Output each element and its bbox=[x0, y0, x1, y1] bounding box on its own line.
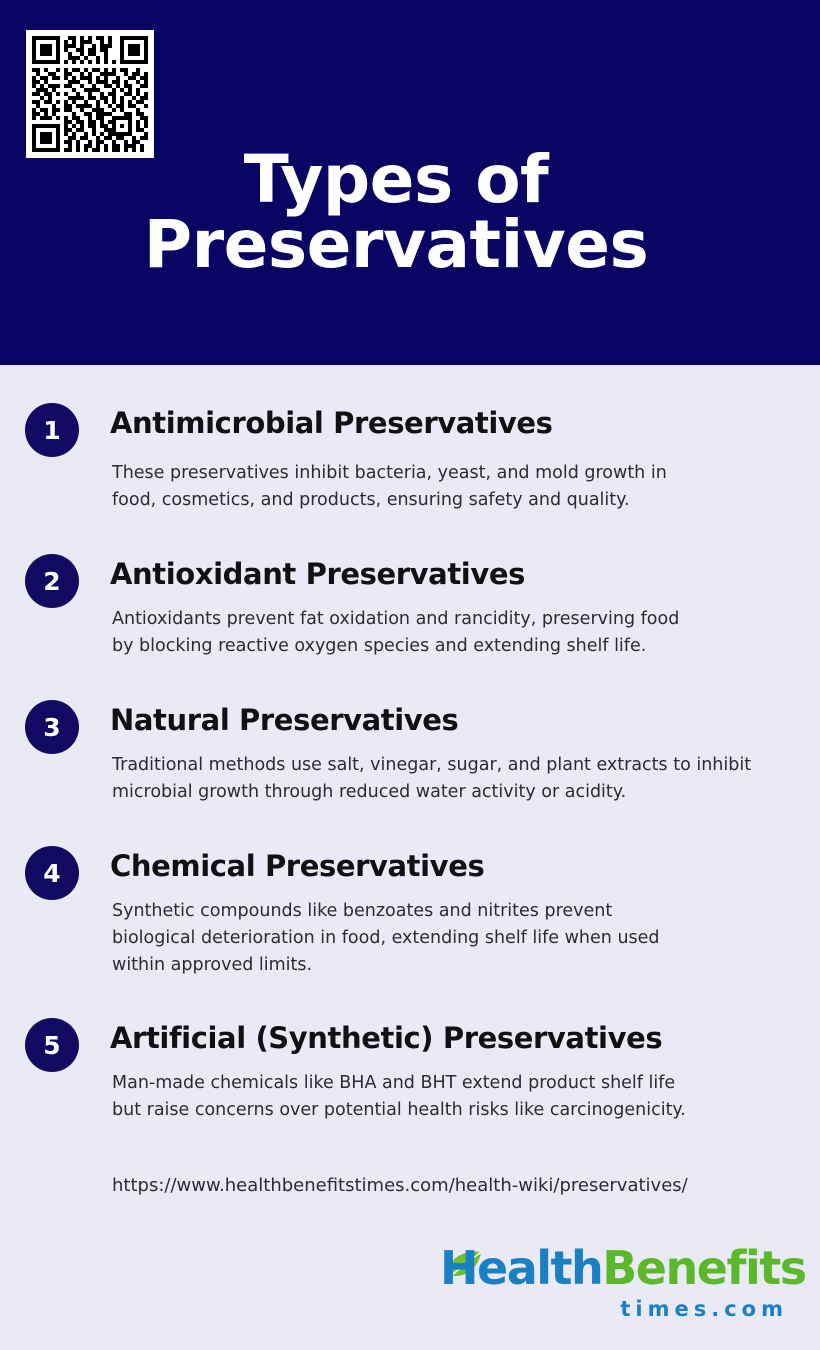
item-description: These preservatives inhibit bacteria, ye… bbox=[112, 460, 667, 514]
item-title: Chemical Preservatives bbox=[110, 849, 484, 883]
item-description: Synthetic compounds like benzoates and n… bbox=[112, 898, 660, 979]
item-description: Traditional methods use salt, vinegar, s… bbox=[112, 752, 751, 806]
item-title: Artificial (Synthetic) Preservatives bbox=[110, 1021, 662, 1055]
header-banner: Types of Preservatives bbox=[0, 0, 820, 365]
item-number-badge: 2 bbox=[25, 554, 79, 608]
qr-code-svg bbox=[32, 36, 148, 152]
item-title: Natural Preservatives bbox=[110, 703, 458, 737]
source-url-link[interactable]: https://www.healthbenefitstimes.com/heal… bbox=[112, 1175, 688, 1196]
item-number-badge: 1 bbox=[25, 403, 79, 457]
logo-health-text: Health bbox=[440, 1241, 602, 1295]
item-description: Man-made chemicals like BHA and BHT exte… bbox=[112, 1070, 686, 1124]
logo-benefits-text: Benefits bbox=[602, 1241, 805, 1295]
item-number-badge: 4 bbox=[25, 846, 79, 900]
site-logo[interactable]: HealthBenefits times.com bbox=[440, 1245, 790, 1335]
page-title: Types of Preservatives bbox=[60, 148, 732, 277]
item-title: Antioxidant Preservatives bbox=[110, 557, 525, 591]
item-title: Antimicrobial Preservatives bbox=[110, 406, 553, 440]
logo-tagline: times.com bbox=[440, 1297, 790, 1321]
qr-code-icon[interactable] bbox=[26, 30, 154, 158]
item-number-badge: 3 bbox=[25, 700, 79, 754]
logo-wordmark: HealthBenefits bbox=[440, 1245, 790, 1291]
item-description: Antioxidants prevent fat oxidation and r… bbox=[112, 606, 679, 660]
item-number-badge: 5 bbox=[25, 1018, 79, 1072]
